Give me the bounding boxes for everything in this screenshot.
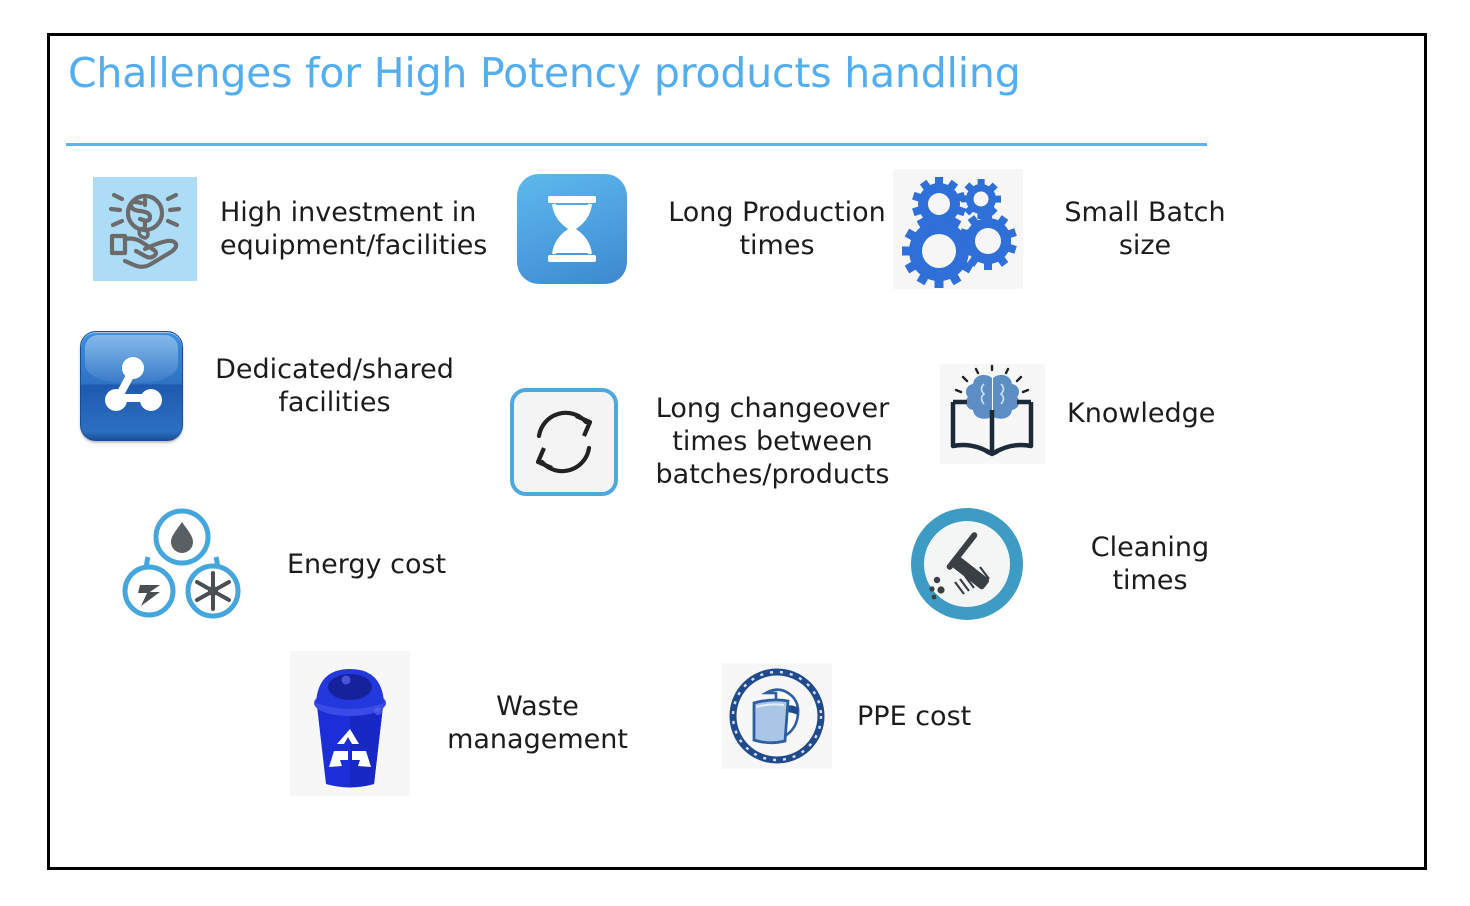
item-cleaning-times[interactable]: Cleaning times bbox=[907, 499, 1277, 629]
network-share-icon bbox=[80, 331, 183, 441]
item-energy-cost[interactable]: Energy cost bbox=[118, 504, 518, 624]
item-label: Knowledge bbox=[1067, 397, 1215, 430]
energy-triad-icon bbox=[118, 505, 246, 623]
item-label: Cleaning times bbox=[1055, 531, 1245, 597]
hand-holding-money-icon bbox=[93, 177, 197, 281]
item-label: Long changeover times between batches/pr… bbox=[640, 392, 905, 491]
item-label: Waste management bbox=[430, 690, 645, 756]
page-title: Challenges for High Potency products han… bbox=[68, 48, 1021, 98]
item-label: High investment in equipment/facilities bbox=[220, 196, 487, 262]
circular-arrows-icon bbox=[510, 388, 618, 496]
item-ppe-cost[interactable]: PPE cost bbox=[722, 663, 1052, 769]
broom-circle-icon bbox=[907, 504, 1027, 624]
item-dedicated-shared-facilities[interactable]: Dedicated/shared facilities bbox=[80, 330, 500, 442]
item-long-changeover-times[interactable]: Long changeover times between batches/pr… bbox=[510, 369, 930, 514]
gears-icon bbox=[893, 169, 1023, 289]
brain-book-icon bbox=[940, 364, 1045, 464]
item-knowledge[interactable]: Knowledge bbox=[940, 361, 1280, 466]
item-label: Dedicated/shared facilities bbox=[207, 353, 462, 419]
title-divider bbox=[66, 143, 1207, 146]
item-waste-management[interactable]: Waste management bbox=[290, 648, 690, 798]
item-label: PPE cost bbox=[857, 700, 971, 733]
item-small-batch-size[interactable]: Small Batch size bbox=[893, 169, 1273, 289]
hourglass-icon bbox=[517, 174, 627, 284]
slide-frame: Challenges for High Potency products han… bbox=[47, 33, 1427, 870]
item-label: Small Batch size bbox=[1045, 196, 1245, 262]
recycle-bin-icon bbox=[290, 651, 410, 796]
face-shield-icon bbox=[722, 663, 832, 769]
item-label: Long Production times bbox=[652, 196, 902, 262]
item-label: Energy cost bbox=[287, 548, 446, 581]
item-long-production-times[interactable]: Long Production times bbox=[517, 174, 917, 284]
item-high-investment[interactable]: High investment in equipment/facilities bbox=[93, 174, 513, 284]
